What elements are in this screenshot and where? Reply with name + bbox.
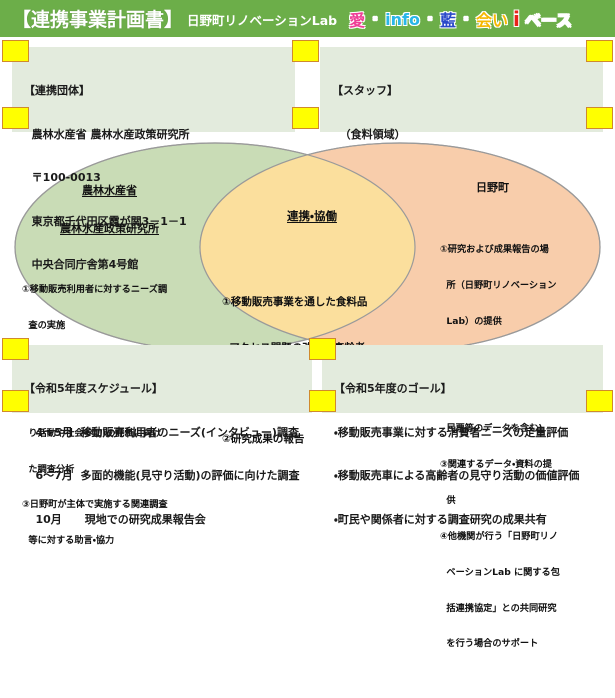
venn-right-body: ①研究および成果報告の場 所（日野町リノベーション Lab）の提供 ②研究の対象… [440,220,605,674]
logo-part-i: i [509,7,524,31]
corner-marker-schedule-bl [2,390,29,412]
staff-box: 【スタッフ】 （食料領域） [320,47,603,132]
corner-marker-partner-tr [292,40,319,62]
goal-box-line: ・移動販売事業に対する消費者ニーズの定量評価 [334,426,593,441]
venn-right-line: Lab）の提供 [440,316,605,328]
venn-right-line: 括連携協定」との共同研究 [440,603,605,615]
venn-right-line: ベーションLab に関する包 [440,567,605,579]
corner-marker-schedule-br [309,390,336,412]
brand-logo: 愛 ・ info ・ 藍 ・ 会い i ベース [349,7,572,31]
goal-box-line: ・町民や関係者に対する調査研究の成果共有 [334,513,593,528]
schedule-box-line: 6～7月 多面的機能(見守り活動)の評価に向けた調査 [24,469,302,484]
corner-marker-partner-tl [2,40,29,62]
corner-marker-goal-br [586,390,613,412]
venn-left-line: 査の実施 [22,320,197,332]
staff-box-line: （食料領域） [332,128,593,143]
venn-right-line: 所（日野町リノベーション [440,280,605,292]
partner-box-line: 東京都千代田区霞が関3－1－1 [24,215,285,230]
logo-part-ai: 愛 [349,7,365,31]
partner-box-line: 農林水産省 農林水産政策研究所 [24,128,285,143]
logo-part-ran: 藍 [440,7,456,31]
logo-dot-3: ・ [457,9,475,29]
logo-dot-1: ・ [366,9,384,29]
schedule-box-line: 10月 現地での研究成果報告会 [24,513,302,528]
partner-box-line: 〒100-0013 [24,171,285,186]
corner-marker-schedule-tr [309,338,336,360]
venn-right-line: 供 [440,495,605,507]
venn-left-line: 等に対する助言・協力 [22,535,197,547]
schedule-box-line: 4～5月 移動販売利用者のニーズ(インタビュー)調査 [24,426,302,441]
header-bar: 【連携事業計画書】 日野町リノベーションLab 愛 ・ info ・ 藍 ・ 会… [0,0,615,37]
schedule-box: 【令和5年度スケジュール】 4～5月 移動販売利用者のニーズ(インタビュー)調査… [12,345,312,413]
corner-marker-partner-br [292,107,319,129]
venn-right-line: を行う場合のサポート [440,638,605,650]
page-title: 【連携事業計画書】 [12,5,183,32]
staff-box-title: 【スタッフ】 [332,84,593,99]
corner-marker-staff-br [586,107,613,129]
goal-box: 【令和5年度のゴール】 ・移動販売事業に対する消費者ニーズの定量評価 ・移動販売… [322,345,603,413]
corner-marker-schedule-tl [2,338,29,360]
logo-part-base: ベース [525,7,572,31]
corner-marker-partner-bl [2,107,29,129]
venn-right-heading: 日野町 [440,181,605,195]
logo-dot-2: ・ [421,9,439,29]
header-subtitle: 日野町リノベーションLab [187,10,337,29]
corner-marker-staff-tr [586,40,613,62]
goal-box-title: 【令和5年度のゴール】 [334,382,593,397]
slide-canvas: 【連携事業計画書】 日野町リノベーションLab 愛 ・ info ・ 藍 ・ 会… [0,0,615,426]
venn-right-line: ①研究および成果報告の場 [440,244,605,256]
schedule-box-title: 【令和5年度スケジュール】 [24,382,302,397]
logo-part-info: info [385,10,420,29]
venn-left-line: ③日野町が主体で実施する関連調査 [22,499,197,511]
partner-box-title: 【連携団体】 [24,84,285,99]
partner-organization-box: 【連携団体】 農林水産省 農林水産政策研究所 〒100-0013 東京都千代田区… [12,47,295,132]
logo-part-kai: 会い [476,7,508,31]
venn-right-line: ④他機関が行う「日野町リノ [440,531,605,543]
partner-box-line: 中央合同庁舎第4号館 [24,258,285,273]
goal-box-line: ・移動販売車による高齢者の見守り活動の価値評価 [334,469,593,484]
